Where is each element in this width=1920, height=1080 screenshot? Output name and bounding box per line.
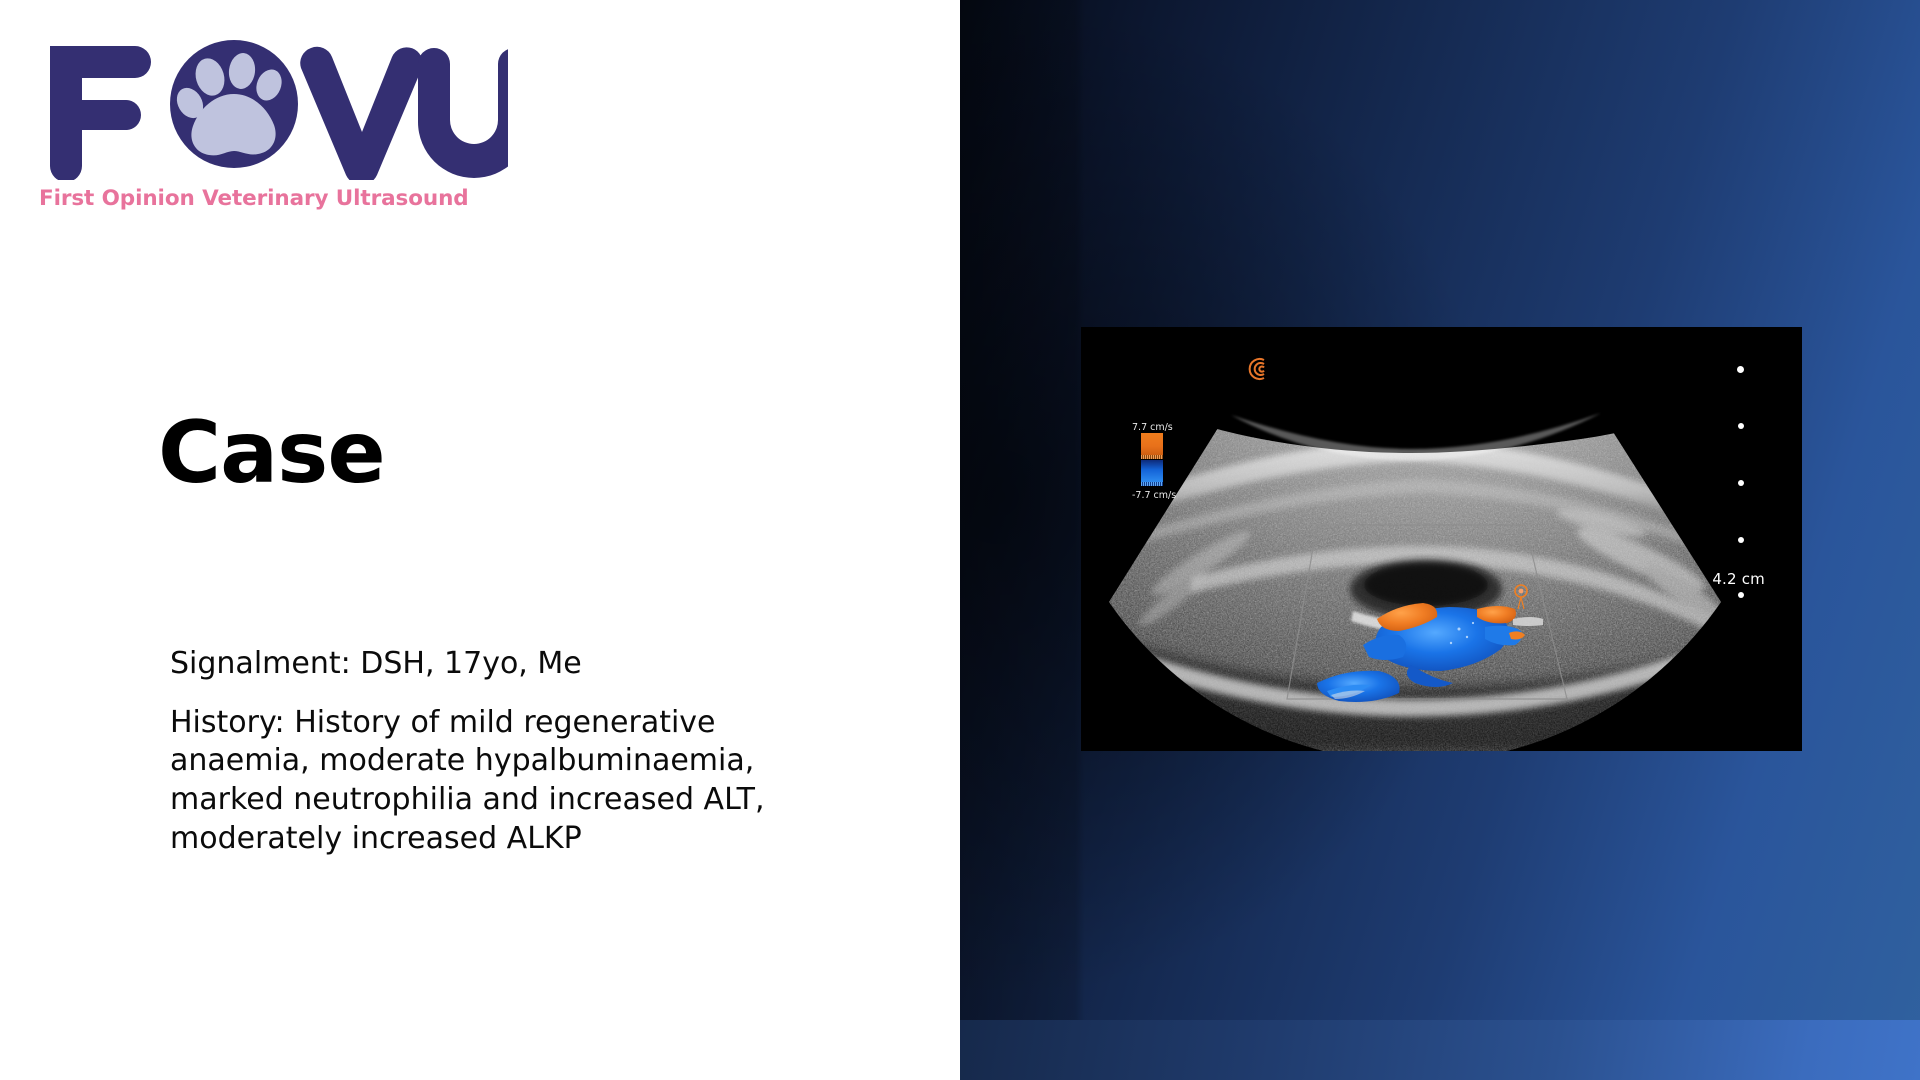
velocity-min-label: -7.7 cm/s bbox=[1124, 490, 1208, 501]
velocity-positive-swatch bbox=[1141, 433, 1163, 455]
signalment-text: Signalment: DSH, 17yo, Me bbox=[170, 645, 850, 684]
ultrasound-image: 7.7 cm/s -7.7 cm/s 4.2 cm bbox=[1081, 327, 1802, 751]
depth-marker-dot bbox=[1738, 592, 1744, 598]
brand-tagline: First Opinion Veterinary Ultrasound bbox=[39, 186, 538, 211]
fovu-wordmark-icon bbox=[38, 28, 508, 180]
depth-marker-dot bbox=[1738, 537, 1744, 543]
background-lower-band bbox=[960, 1020, 1920, 1080]
velocity-negative-dither bbox=[1141, 482, 1163, 486]
velocity-negative-swatch bbox=[1141, 460, 1163, 482]
ultrasound-scan-graphic bbox=[1081, 327, 1802, 751]
depth-label: 4.2 cm bbox=[1712, 570, 1765, 588]
slide-heading: Case bbox=[158, 410, 385, 496]
history-text: History: History of mild regenerative an… bbox=[170, 704, 850, 859]
right-visual-panel: 7.7 cm/s -7.7 cm/s 4.2 cm bbox=[960, 0, 1920, 1080]
case-details: Signalment: DSH, 17yo, Me History: Histo… bbox=[170, 645, 850, 858]
left-content-panel: First Opinion Veterinary Ultrasound Case… bbox=[0, 0, 960, 1080]
depth-marker-dot bbox=[1738, 480, 1744, 486]
presentation-slide: First Opinion Veterinary Ultrasound Case… bbox=[0, 0, 1920, 1080]
velocity-max-label: 7.7 cm/s bbox=[1124, 422, 1208, 433]
depth-marker-dot bbox=[1737, 366, 1744, 373]
probe-orientation-icon bbox=[1247, 356, 1273, 382]
brand-logo: First Opinion Veterinary Ultrasound bbox=[38, 28, 538, 211]
depth-marker-dot bbox=[1738, 423, 1744, 429]
doppler-velocity-scale: 7.7 cm/s -7.7 cm/s bbox=[1124, 422, 1208, 502]
velocity-positive-dither bbox=[1141, 455, 1163, 459]
